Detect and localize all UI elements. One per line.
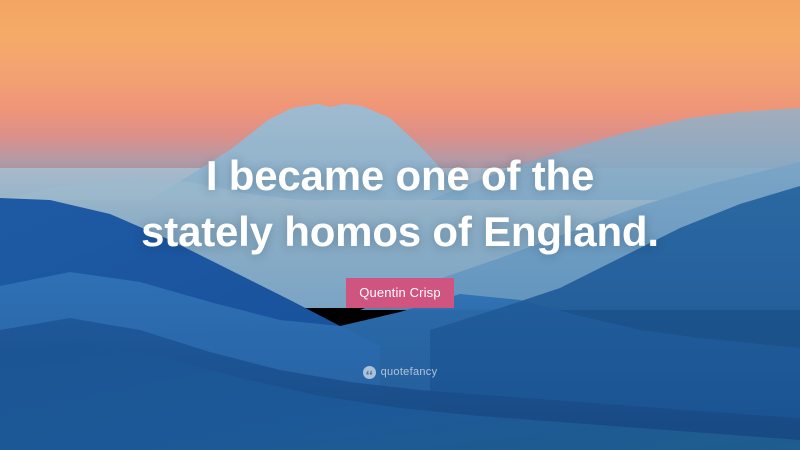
- author-name-badge: Quentin Crisp: [346, 278, 453, 308]
- quote-line-2: stately homos of England.: [60, 204, 740, 260]
- quote-mark-icon: [363, 366, 376, 379]
- quote-wallpaper: I became one of the stately homos of Eng…: [0, 0, 800, 450]
- author-attribution: Quentin Crisp: [0, 278, 800, 308]
- watermark-brand: quotefancy: [381, 366, 438, 379]
- quote-text: I became one of the stately homos of Eng…: [0, 148, 800, 260]
- quote-line-1: I became one of the: [60, 148, 740, 204]
- watermark: quotefancy: [0, 366, 800, 379]
